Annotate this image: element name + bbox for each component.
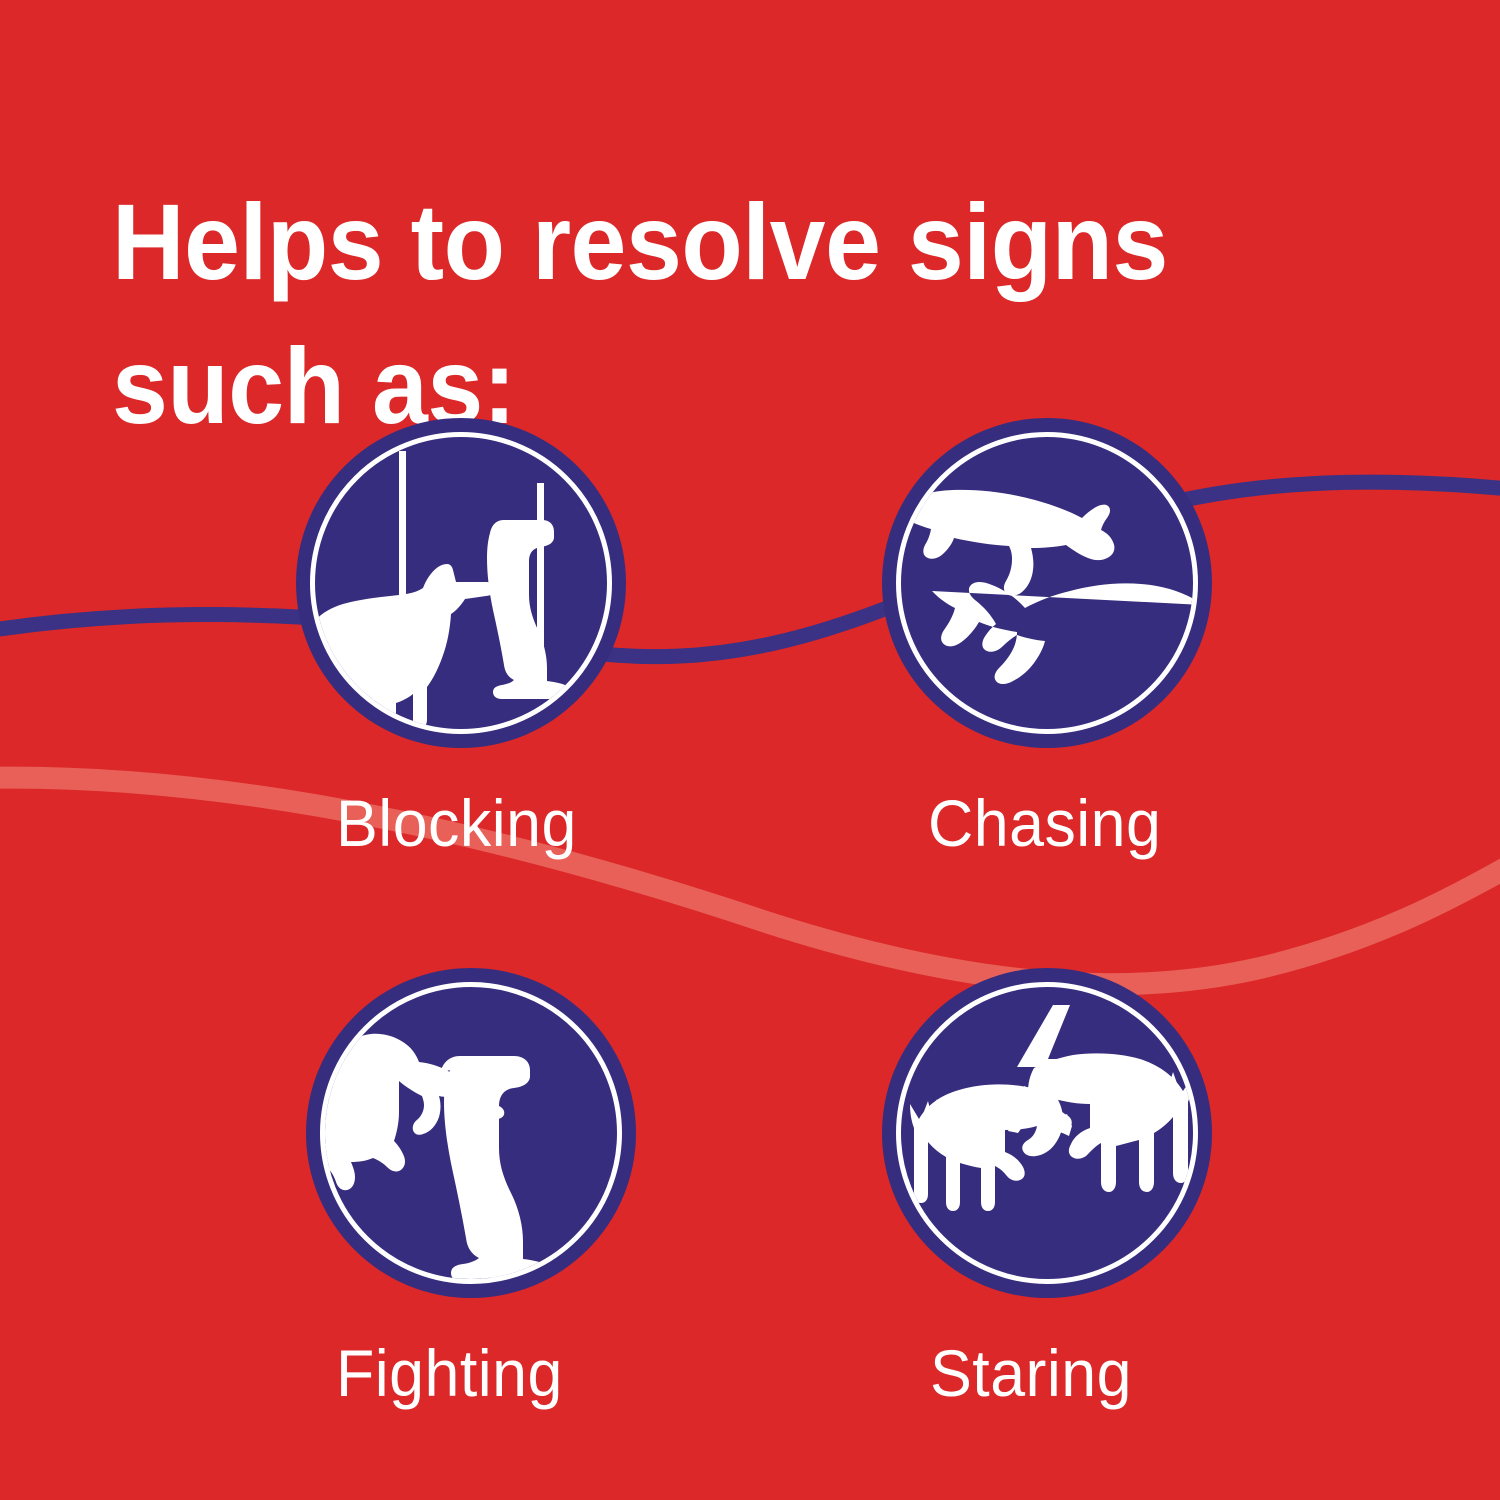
two-cats-running-icon bbox=[901, 437, 1193, 729]
sign-label-staring: Staring bbox=[930, 1340, 1132, 1406]
sign-label-fighting: Fighting bbox=[336, 1340, 563, 1406]
blocking-badge[interactable] bbox=[296, 418, 626, 748]
chasing-badge[interactable] bbox=[882, 418, 1212, 748]
fighting-badge[interactable] bbox=[306, 968, 636, 1298]
two-cats-doorway-icon bbox=[315, 437, 607, 729]
signs-grid: Blocking Chasing bbox=[0, 0, 1500, 1500]
sign-label-blocking: Blocking bbox=[336, 790, 577, 856]
two-cats-swatting-icon bbox=[325, 987, 617, 1279]
sign-label-chasing: Chasing bbox=[928, 790, 1161, 856]
promo-banner: Helps to resolve signs such as: bbox=[0, 0, 1500, 1500]
two-cats-bristled-lightning-icon bbox=[901, 987, 1193, 1279]
staring-badge[interactable] bbox=[882, 968, 1212, 1298]
